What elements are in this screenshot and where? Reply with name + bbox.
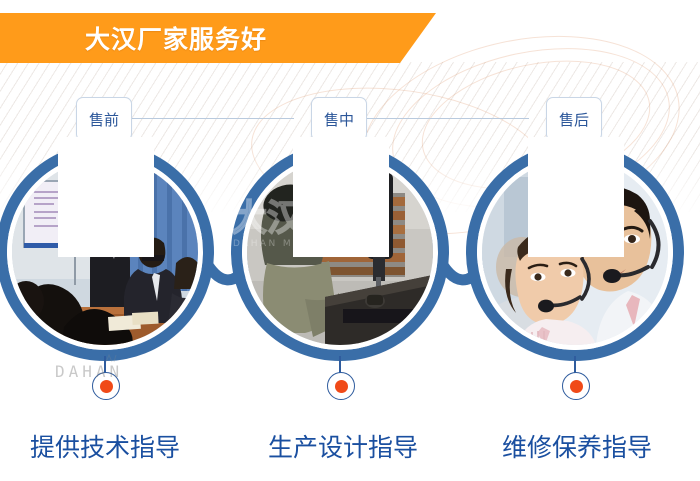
step-badge-presales[interactable]: 售前 — [76, 97, 132, 141]
marker-dot-aftersales — [570, 380, 583, 393]
marker-presales — [92, 372, 120, 400]
step-badge-presales-label: 售前 — [89, 109, 119, 130]
badge-connector-line-1 — [131, 118, 294, 119]
circle-ring-top-mask-1 — [58, 137, 154, 257]
step-badge-duringsales-label: 售中 — [324, 109, 354, 130]
service-circle-aftersales — [466, 143, 684, 361]
marker-dot-duringsales — [335, 380, 348, 393]
marker-aftersales — [562, 372, 590, 400]
page-title: 大汉厂家服务好 — [85, 13, 267, 63]
caption-presales: 提供技术指导 — [5, 428, 205, 464]
caption-duringsales: 生产设计指导 — [263, 428, 423, 464]
step-badge-aftersales[interactable]: 售后 — [546, 97, 602, 141]
marker-duringsales — [327, 372, 355, 400]
service-infographic: 大汉厂家服务好 售前 售中 售后 — [0, 0, 700, 481]
badge-connector-line-2 — [366, 118, 529, 119]
caption-aftersales: 维修保养指导 — [497, 428, 657, 464]
step-badge-duringsales[interactable]: 售中 — [311, 97, 367, 141]
marker-dot-presales — [100, 380, 113, 393]
service-circle-duringsales — [231, 143, 449, 361]
step-badge-aftersales-label: 售后 — [559, 109, 589, 130]
circle-ring-top-mask-3 — [528, 137, 624, 257]
service-circle-presales — [0, 143, 214, 361]
circle-ring-top-mask-2 — [293, 137, 389, 257]
